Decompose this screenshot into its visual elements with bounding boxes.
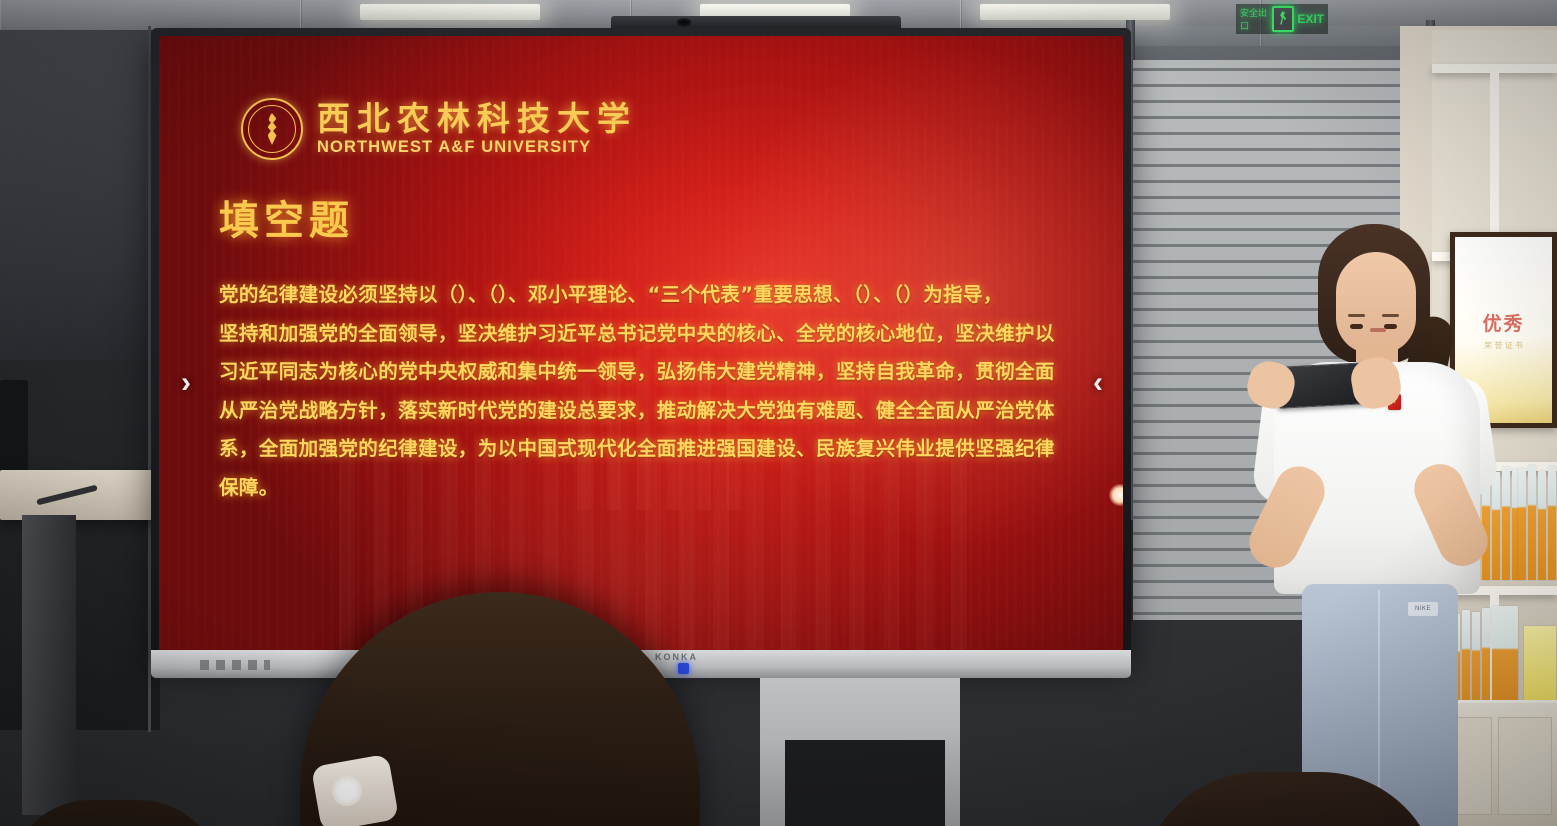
slide-body-line: 保障。 <box>219 469 1099 508</box>
slide-body-line: 系，全面加强党的纪律建设，为以中国式现代化全面推进强国建设、民族复兴伟业提供坚强… <box>219 430 1099 469</box>
power-led-icon <box>678 663 689 674</box>
tv-stand-panel <box>785 740 945 826</box>
ceiling-light <box>360 4 540 20</box>
left-glass-panel <box>0 30 150 360</box>
tv-brand-label: KONKA <box>655 652 698 662</box>
university-name-en: NORTHWEST A&F UNIVERSITY <box>317 138 637 157</box>
classroom-scene: 安全出口 EXIT 优秀 <box>0 0 1557 826</box>
slide-body-line: 从严治党战略方针，落实新时代党的建设总要求，推动解决大党独有难题、健全全面从严治… <box>219 392 1099 431</box>
university-name-cn: 西北农林科技大学 <box>317 101 637 138</box>
university-seal-icon <box>241 98 303 160</box>
presenter: NIKE <box>1240 224 1510 826</box>
camera-icon <box>676 18 692 27</box>
book-row <box>1518 462 1556 580</box>
slide-title: 填空题 <box>219 188 354 246</box>
university-logo: 西北农林科技大学 NORTHWEST A&F UNIVERSITY <box>241 98 637 160</box>
presentation-screen[interactable]: 西北农林科技大学 NORTHWEST A&F UNIVERSITY 填空题 党的… <box>159 36 1123 650</box>
running-person-icon <box>1272 6 1294 32</box>
tv-port-strip <box>200 660 270 670</box>
pants-brand-label: NIKE <box>1408 602 1438 616</box>
slide-body-line: 坚持和加强党的全面领导，坚决维护习近平总书记党中央的核心、全党的核心地位，坚决维… <box>219 315 1099 354</box>
next-slide-icon[interactable]: ‹ <box>1093 366 1103 400</box>
slide-body: 党的纪律建设必须坚持以（）、（）、邓小平理论、“三个代表”重要思想、（）、（）为… <box>219 276 1099 508</box>
exit-sign: 安全出口 EXIT <box>1236 4 1328 34</box>
hair-flower-icon <box>332 776 362 806</box>
prev-slide-icon[interactable]: › <box>181 366 191 400</box>
ceiling-light <box>980 4 1170 20</box>
presenter-face <box>1336 252 1416 354</box>
slide-body-line: 党的纪律建设必须坚持以（）、（）、邓小平理论、“三个代表”重要思想、（）、（）为… <box>219 276 1099 315</box>
podium-leg <box>22 515 76 815</box>
exit-sign-label-en: EXIT <box>1297 12 1324 26</box>
interactive-display[interactable]: 西北农林科技大学 NORTHWEST A&F UNIVERSITY 填空题 党的… <box>151 28 1131 658</box>
exit-sign-label-cn: 安全出口 <box>1240 6 1269 32</box>
presenter-mouth <box>1370 328 1386 332</box>
slide-body-line: 习近平同志为核心的党中央权威和集中统一领导，弘扬伟大建党精神，坚持自我革命，贯彻… <box>219 353 1099 392</box>
